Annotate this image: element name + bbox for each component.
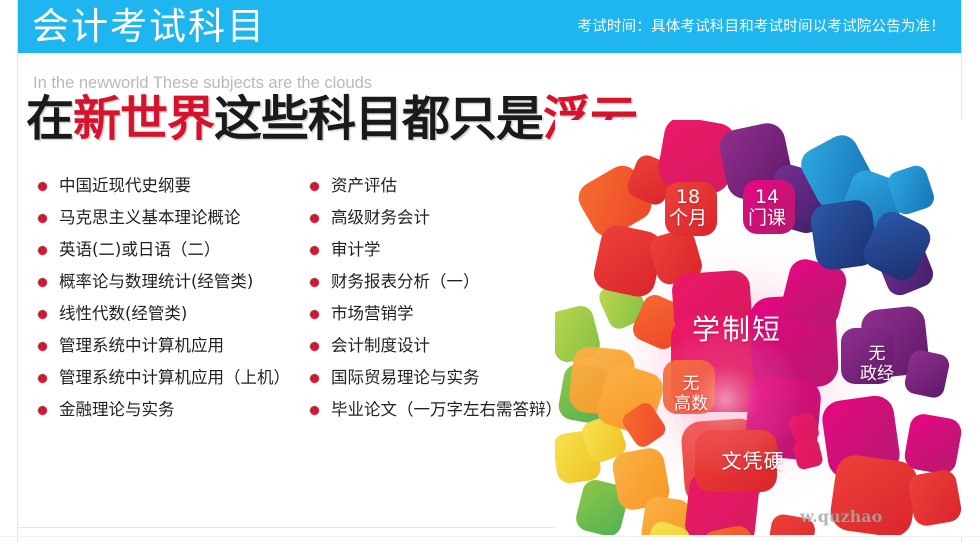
subject-label: 管理系统中计算机应用（上机）: [59, 368, 290, 387]
list-item: 财务报表分析（一）: [305, 266, 585, 298]
subject-label: 马克思主义基本理论概论: [59, 208, 241, 227]
list-item: 高级财务会计: [305, 202, 585, 234]
subject-label: 财务报表分析（一）: [331, 272, 480, 291]
bullet-icon: [310, 214, 319, 223]
list-item: 市场营销学: [305, 298, 585, 330]
frame-left-border: [17, 0, 18, 542]
bullet-icon: [38, 310, 47, 319]
headline-segment-1: 在: [26, 91, 73, 147]
list-item: 国际贸易理论与实务: [305, 362, 585, 394]
subject-list-left: 中国近现代史纲要 马克思主义基本理论概论 英语(二)或日语（二） 概率论与数理统…: [33, 170, 305, 426]
bullet-icon: [38, 182, 47, 191]
bullet-icon: [310, 182, 319, 191]
headline-segment-2: 这些科目都只是: [214, 91, 543, 147]
bullet-icon: [310, 278, 319, 287]
subject-label: 高级财务会计: [331, 208, 430, 227]
promo-banner: 会计考试科目 考试时间：具体考试科目和考试时间以考试院公告为准！ In the …: [0, 0, 980, 542]
subject-label: 中国近现代史纲要: [59, 176, 191, 195]
bullet-icon: [38, 342, 47, 351]
bullet-icon: [310, 374, 319, 383]
subject-label: 资产评估: [331, 176, 397, 195]
bullet-icon: [310, 310, 319, 319]
bullet-icon: [38, 214, 47, 223]
headline-segment-red-1: 新世界: [73, 91, 214, 147]
bullet-icon: [38, 374, 47, 383]
subject-label: 概率论与数理统计(经管类): [59, 272, 253, 291]
headline: 在新世界这些科目都只是浮云: [26, 92, 637, 146]
list-item: 金融理论与实务: [33, 394, 305, 426]
bullet-icon: [310, 246, 319, 255]
list-item: 会计制度设计: [305, 330, 585, 362]
subject-list-right: 资产评估 高级财务会计 审计学 财务报表分析（一） 市场营销学 会计制度设计 国…: [305, 170, 585, 426]
list-item: 审计学: [305, 234, 585, 266]
list-item: 马克思主义基本理论概论: [33, 202, 305, 234]
list-item: 概率论与数理统计(经管类): [33, 266, 305, 298]
header-bar: 会计考试科目 考试时间：具体考试科目和考试时间以考试院公告为准！: [18, 0, 961, 53]
subject-label: 线性代数(经管类): [59, 304, 187, 323]
list-item: 毕业论文（一万字左右需答辩）: [305, 394, 585, 426]
subject-label: 管理系统中计算机应用: [59, 336, 224, 355]
subject-label: 金融理论与实务: [59, 400, 175, 419]
colorful-cloud-graphic: [555, 120, 975, 535]
subject-label: 市场营销学: [331, 304, 414, 323]
subject-label: 英语(二)或日语（二）: [59, 240, 220, 259]
subtitle-english: In the newworld These subjects are the c…: [33, 73, 372, 93]
frame-bottom-shadow: [0, 536, 980, 537]
subject-label: 毕业论文（一万字左右需答辩）: [331, 400, 562, 419]
list-item: 线性代数(经管类): [33, 298, 305, 330]
list-item: 管理系统中计算机应用: [33, 330, 305, 362]
exam-time-note: 考试时间：具体考试科目和考试时间以考试院公告为准！: [578, 18, 946, 36]
list-item: 资产评估: [305, 170, 585, 202]
page-title: 会计考试科目: [32, 2, 266, 52]
subject-label: 会计制度设计: [331, 336, 430, 355]
bullet-icon: [38, 246, 47, 255]
bullet-icon: [38, 406, 47, 415]
bullet-icon: [38, 278, 47, 287]
subject-label: 审计学: [331, 240, 381, 259]
list-item: 中国近现代史纲要: [33, 170, 305, 202]
list-item: 管理系统中计算机应用（上机）: [33, 362, 305, 394]
bullet-icon: [310, 342, 319, 351]
bullet-icon: [310, 406, 319, 415]
subject-label: 国际贸易理论与实务: [331, 368, 480, 387]
site-watermark: w.quzhao: [800, 507, 882, 526]
list-item: 英语(二)或日语（二）: [33, 234, 305, 266]
